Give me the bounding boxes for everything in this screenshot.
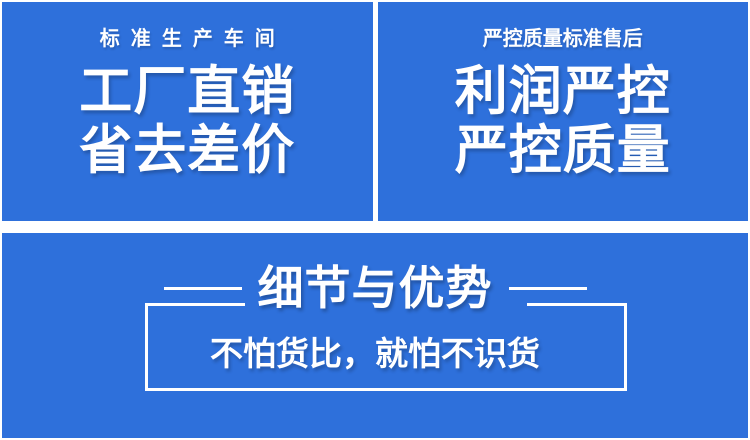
panel-headline-line1: 工厂直销 xyxy=(79,63,295,120)
panel-headline-line2: 省去差价 xyxy=(79,122,295,179)
panel-quality-control: 严控质量标准售后 利润严控 严控质量 xyxy=(378,2,749,221)
panel-factory-direct: 标准生产车间 工厂直销 省去差价 xyxy=(2,2,373,221)
panel-details-advantages: 细节与优势 不怕货比，就怕不识货 xyxy=(2,233,748,438)
decorative-dash-right xyxy=(509,287,587,290)
panel-subtitle: 标准生产车间 xyxy=(89,29,286,49)
promo-banner: 标准生产车间 工厂直销 省去差价 严控质量标准售后 利润严控 严控质量 细节与优… xyxy=(0,0,750,440)
bottom-title-row: 细节与优势 xyxy=(2,265,748,311)
panel-subtitle: 严控质量标准售后 xyxy=(483,29,643,49)
bottom-panel-subtitle: 不怕货比，就怕不识货 xyxy=(2,337,748,370)
panel-headline-line2: 严控质量 xyxy=(455,122,671,179)
top-panel-row: 标准生产车间 工厂直销 省去差价 严控质量标准售后 利润严控 严控质量 xyxy=(0,0,750,221)
decorative-dash-left xyxy=(164,287,242,290)
panel-headline-line1: 利润严控 xyxy=(455,63,671,120)
bottom-panel-title: 细节与优势 xyxy=(258,265,493,311)
